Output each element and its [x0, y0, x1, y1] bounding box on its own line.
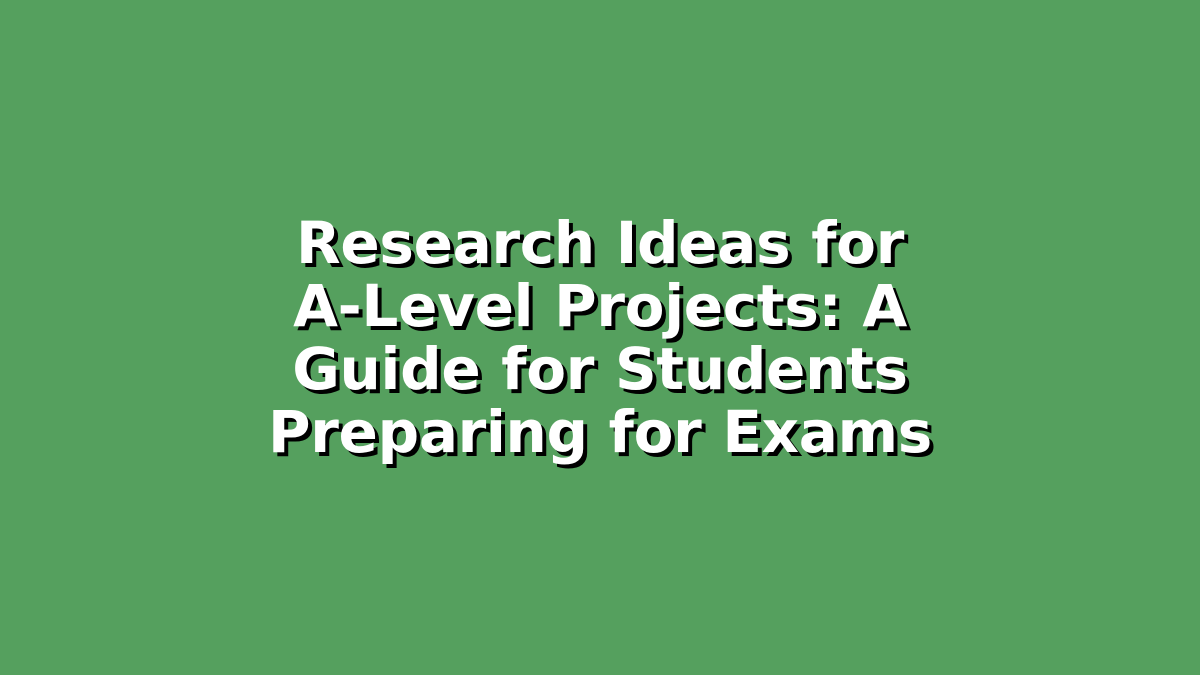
title-block: Research Ideas for A-Level Projects: A G… [220, 212, 980, 464]
page-title: Research Ideas for A-Level Projects: A G… [220, 212, 980, 464]
header-card: Research Ideas for A-Level Projects: A G… [0, 0, 1200, 675]
